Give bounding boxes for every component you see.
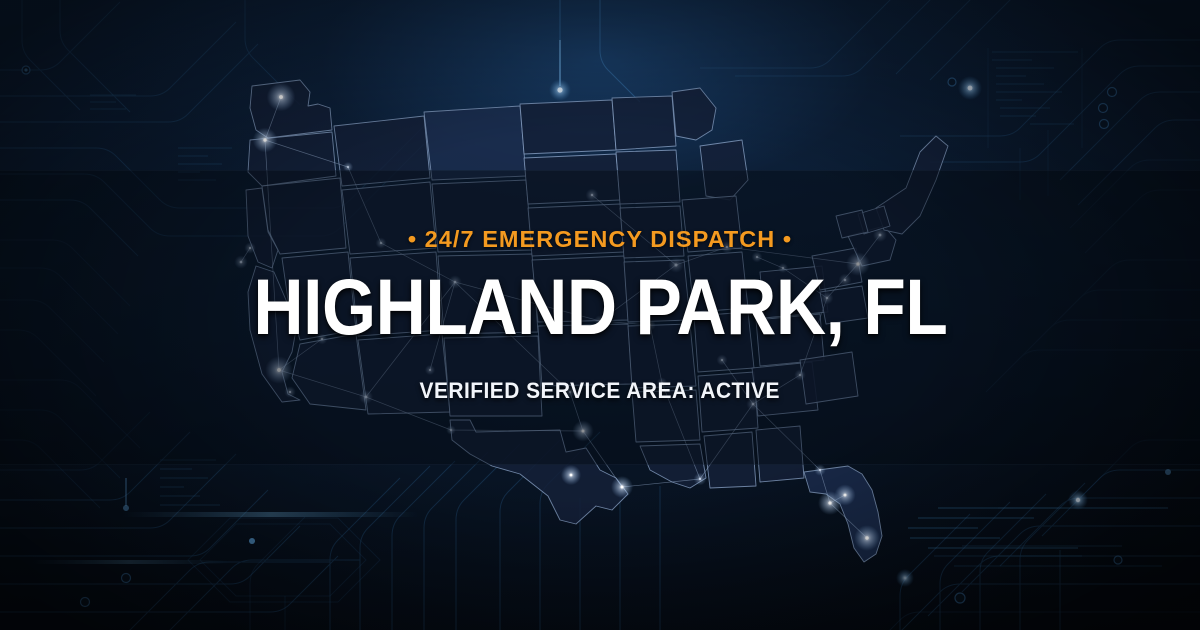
eyebrow-label: • 24/7 EMERGENCY DISPATCH •	[408, 226, 792, 253]
status-badge: VERIFIED SERVICE AREA: ACTIVE	[420, 378, 780, 404]
banner-content: • 24/7 EMERGENCY DISPATCH • HIGHLAND PAR…	[0, 0, 1200, 630]
banner-stage: • 24/7 EMERGENCY DISPATCH • HIGHLAND PAR…	[0, 0, 1200, 630]
page-title: HIGHLAND PARK, FL	[253, 269, 947, 345]
